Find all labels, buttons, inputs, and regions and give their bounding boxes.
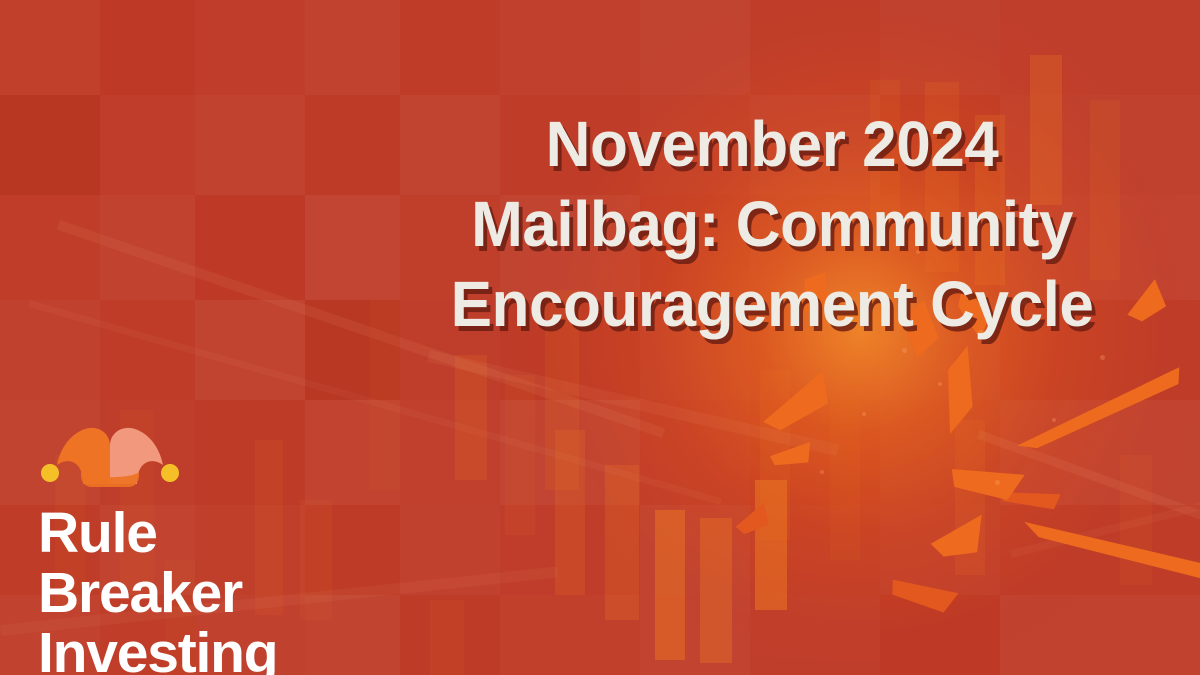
episode-title: November 2024 Mailbag: Community Encoura… [372, 104, 1172, 344]
cap-bell-right [161, 464, 179, 482]
brand-wordmark: Rule Breaker Investing [38, 503, 277, 675]
wordmark-line-3: Investing [38, 623, 277, 675]
title-line-3: Encouragement Cycle [384, 264, 1160, 344]
podcast-cover-art: November 2024 Mailbag: Community Encoura… [0, 0, 1200, 675]
jester-cap-svg [40, 427, 180, 489]
brand-logo: Rule Breaker Investing [38, 427, 277, 675]
wordmark-line-1: Rule [38, 503, 277, 563]
jester-cap-icon [40, 427, 180, 489]
wordmark-line-2: Breaker [38, 563, 277, 623]
cap-bell-left [41, 464, 59, 482]
title-line-1: November 2024 [384, 104, 1160, 184]
title-line-2: Mailbag: Community [384, 184, 1160, 264]
